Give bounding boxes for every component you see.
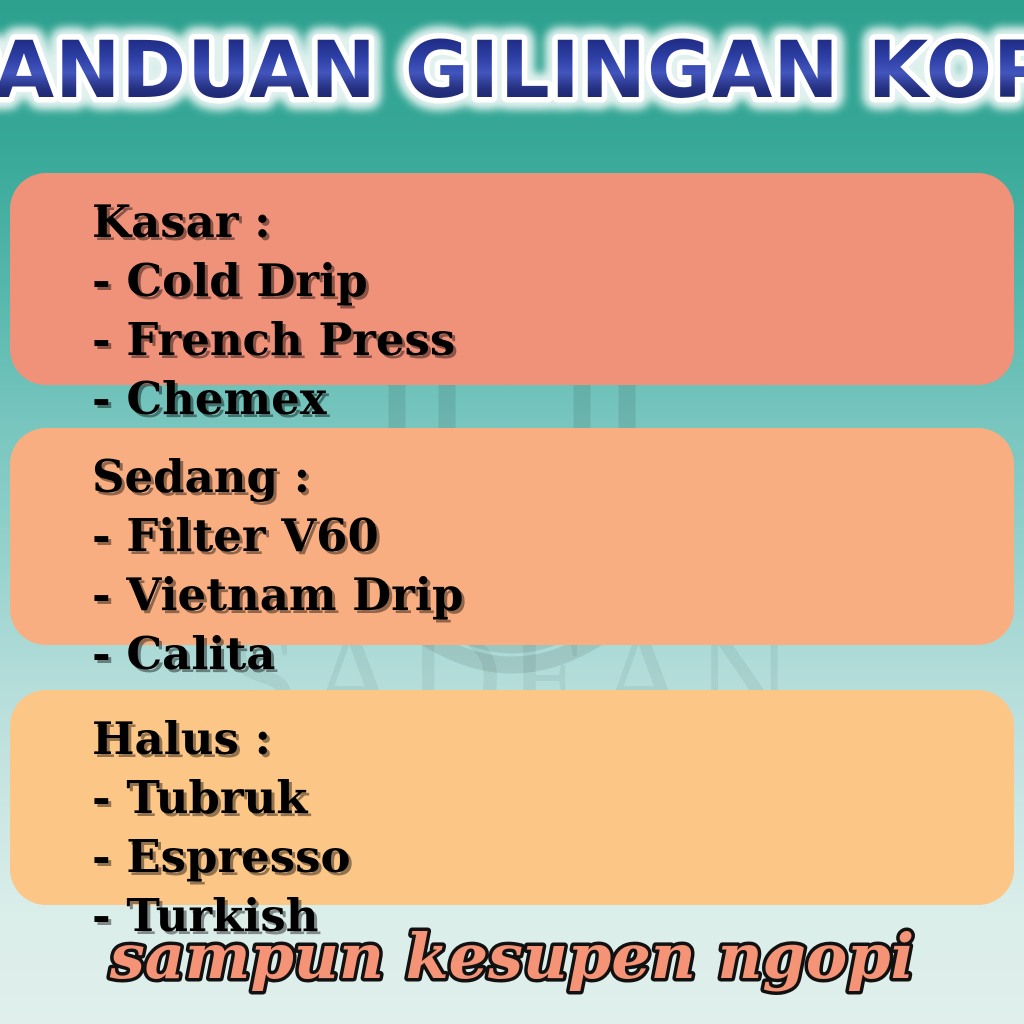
title-fill-layer: PANDUAN GILINGAN KOPI [0, 26, 1024, 116]
title-art-svg: PANDUAN GILINGAN KOPI PANDUAN GILINGAN K… [0, 19, 1024, 129]
card-halus-item-1: - Espresso [92, 834, 1014, 879]
page-title: PANDUAN GILINGAN KOPI PANDUAN GILINGAN K… [0, 26, 1024, 122]
tagline-fill-layer: sampun kesupen ngopi [109, 920, 914, 993]
card-halus: Halus : - Tubruk - Espresso - Turkish [10, 690, 1014, 905]
card-kasar-heading: Kasar : [92, 199, 1014, 244]
card-sedang: Sedang : - Filter V60 - Vietnam Drip - C… [10, 428, 1014, 645]
card-halus-heading: Halus : [92, 716, 1014, 761]
card-kasar: Kasar : - Cold Drip - French Press - Che… [10, 173, 1014, 385]
card-kasar-item-1: - French Press [92, 317, 1014, 362]
tagline: sampun kesupen ngopi sampun kesupen ngop… [0, 912, 1024, 1008]
card-sedang-item-0: - Filter V60 [92, 513, 1014, 558]
card-kasar-item-0: - Cold Drip [92, 258, 1014, 303]
card-kasar-item-2: - Chemex [92, 376, 1014, 421]
tagline-art-svg: sampun kesupen ngopi sampun kesupen ngop… [0, 912, 1024, 1008]
poster-canvas: ꦱꦢꦺꦪꦤ꧀ ꦏꦺꦴꦥꦶ SADEAN C O F F E E [0, 0, 1024, 1024]
card-sedang-item-1: - Vietnam Drip [92, 572, 1014, 617]
card-halus-item-0: - Tubruk [92, 775, 1014, 820]
card-sedang-item-2: - Calita [92, 631, 1014, 676]
card-sedang-heading: Sedang : [92, 454, 1014, 499]
